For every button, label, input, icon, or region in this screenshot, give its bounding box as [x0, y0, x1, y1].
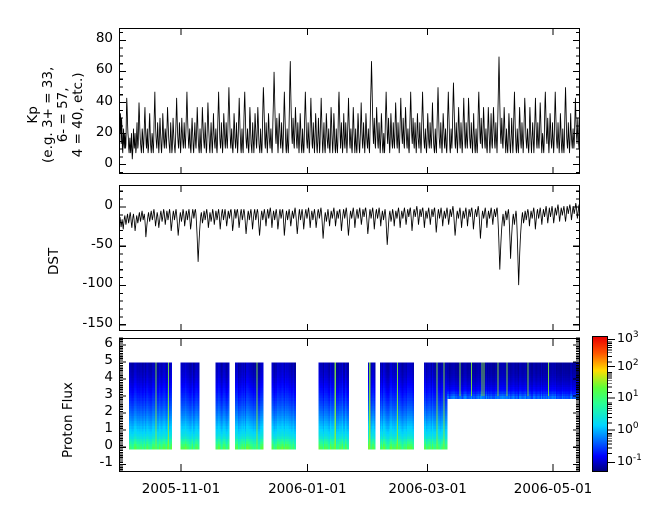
kp-axis-title: Kp (e.g. 3+ = 33, 6- = 57, 4 = 40, etc.): [26, 67, 86, 163]
colorbar-tick-label: 10-1: [617, 453, 642, 468]
colorbar-tick-label: 102: [617, 358, 639, 373]
colorbar-gradient: [593, 337, 607, 471]
ytick-label: 60: [96, 63, 113, 77]
kp-axis-title-line-1: Kp: [26, 67, 41, 163]
proton-flux-panel: [119, 338, 580, 472]
xtick-label: 2006-01-01: [252, 481, 362, 497]
xtick-label: 2006-05-01: [498, 481, 608, 497]
ytick-label: 0: [104, 199, 113, 213]
ytick-label: -100: [82, 277, 113, 291]
xtick-label: 2006-03-01: [373, 481, 483, 497]
colorbar-tick-label: 100: [617, 421, 639, 436]
colorbar: [592, 336, 608, 472]
proton-flux-heatmap: [120, 339, 579, 471]
ytick-label: 40: [96, 95, 113, 109]
ytick-label: -1: [100, 456, 113, 470]
ytick-label: 0: [104, 157, 113, 171]
kp-axis-title-line-2: (e.g. 3+ = 33,: [41, 67, 56, 163]
ytick-label: 2: [104, 405, 113, 419]
ytick-label: 6: [104, 337, 113, 351]
ytick-label: 20: [96, 126, 113, 140]
ytick-label: 80: [96, 32, 113, 46]
figure-canvas: 020406080 0-50-100-150 -10123456 2005-11…: [0, 0, 665, 523]
ytick-label: 1: [104, 422, 113, 436]
dst-plot-area: [120, 186, 579, 330]
xtick-label: 2005-11-01: [126, 481, 236, 497]
proton-flux-axis-title: Proton Flux: [60, 382, 76, 458]
colorbar-tick-label: 103: [617, 330, 639, 345]
colorbar-tick-label: 101: [617, 389, 639, 404]
dst-axis-title: DST: [46, 248, 62, 275]
ytick-label: 0: [104, 439, 113, 453]
kp-panel: [119, 28, 580, 174]
ytick-label: 3: [104, 388, 113, 402]
ytick-label: -150: [82, 317, 113, 331]
kp-axis-title-line-3: 6- = 57,: [56, 67, 71, 163]
kp-axis-title-line-4: 4 = 40, etc.): [71, 67, 86, 163]
ytick-label: 4: [104, 371, 113, 385]
kp-plot-area: [120, 29, 579, 173]
ytick-label: 5: [104, 354, 113, 368]
ytick-label: -50: [91, 238, 113, 252]
dst-panel: [119, 185, 580, 331]
